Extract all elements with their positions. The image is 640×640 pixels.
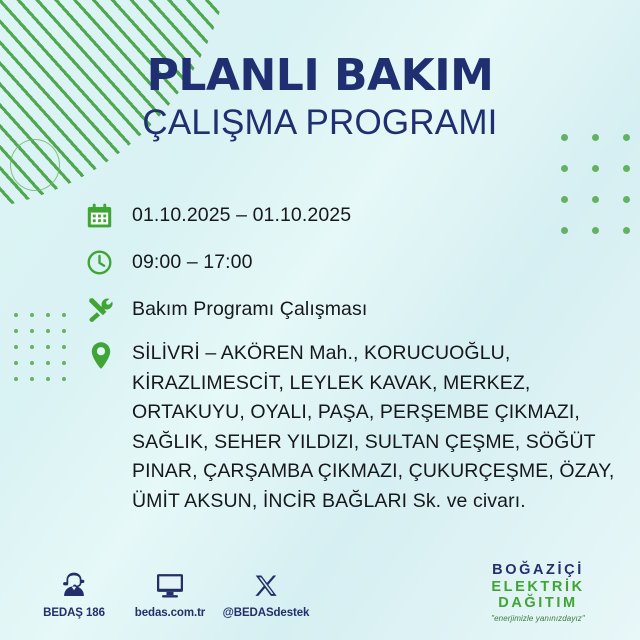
detail-row-time: 09:00 – 17:00 — [84, 245, 624, 279]
contact-social-label: @BEDASdestek — [218, 607, 314, 619]
date-range-text: 01.10.2025 – 01.10.2025 — [132, 198, 624, 232]
calendar-icon — [84, 198, 132, 232]
contact-website[interactable]: bedas.com.tr — [122, 566, 218, 619]
contact-website-label: bedas.com.tr — [122, 607, 218, 619]
tools-icon — [84, 292, 132, 326]
monitor-icon — [122, 566, 218, 600]
contact-channels: BEDAŞ 186 bedas.com.tr — [26, 566, 314, 619]
poster-header: PLANLI BAKIM ÇALIŞMA PROGRAMI — [0, 54, 640, 145]
location-pin-icon — [84, 339, 132, 373]
planned-maintenance-poster: PLANLI BAKIM ÇALIŞMA PROGRAMI — [0, 0, 640, 640]
page-title: PLANLI BAKIM — [0, 54, 640, 99]
contact-social[interactable]: @BEDASdestek — [218, 566, 314, 619]
brand-line-1: BOĞAZİÇİ — [458, 562, 618, 579]
clock-icon — [84, 245, 132, 279]
brand-slogan: "enerjimizle yanınızdayız" — [458, 614, 618, 623]
contact-phone[interactable]: BEDAŞ 186 — [26, 566, 122, 619]
poster-footer: BEDAŞ 186 bedas.com.tr — [0, 556, 640, 640]
circle-outline-decoration — [10, 139, 60, 191]
work-type-text: Bakım Programı Çalışması — [132, 292, 624, 326]
contact-phone-label: BEDAŞ 186 — [26, 607, 122, 619]
detail-row-work-type: Bakım Programı Çalışması — [84, 292, 624, 326]
brand-line-2: ELEKTRİK — [458, 579, 618, 596]
location-text: SİLİVRİ – AKÖREN Mah., KORUCUOĞLU, KİRAZ… — [132, 339, 624, 516]
company-logo: BOĞAZİÇİ ELEKTRİK DAĞITIM "enerjimizle y… — [458, 562, 618, 623]
support-agent-icon — [26, 566, 122, 600]
detail-row-date: 01.10.2025 – 01.10.2025 — [84, 198, 624, 232]
maintenance-details: 01.10.2025 – 01.10.2025 09:00 – 17:00 — [84, 198, 624, 516]
page-subtitle: ÇALIŞMA PROGRAMI — [0, 101, 640, 145]
x-twitter-icon — [218, 566, 314, 600]
brand-line-3: DAĞITIM — [458, 595, 618, 612]
dot-grid-left-decoration — [8, 307, 72, 387]
detail-row-location: SİLİVRİ – AKÖREN Mah., KORUCUOĞLU, KİRAZ… — [84, 339, 624, 516]
time-range-text: 09:00 – 17:00 — [132, 245, 624, 279]
